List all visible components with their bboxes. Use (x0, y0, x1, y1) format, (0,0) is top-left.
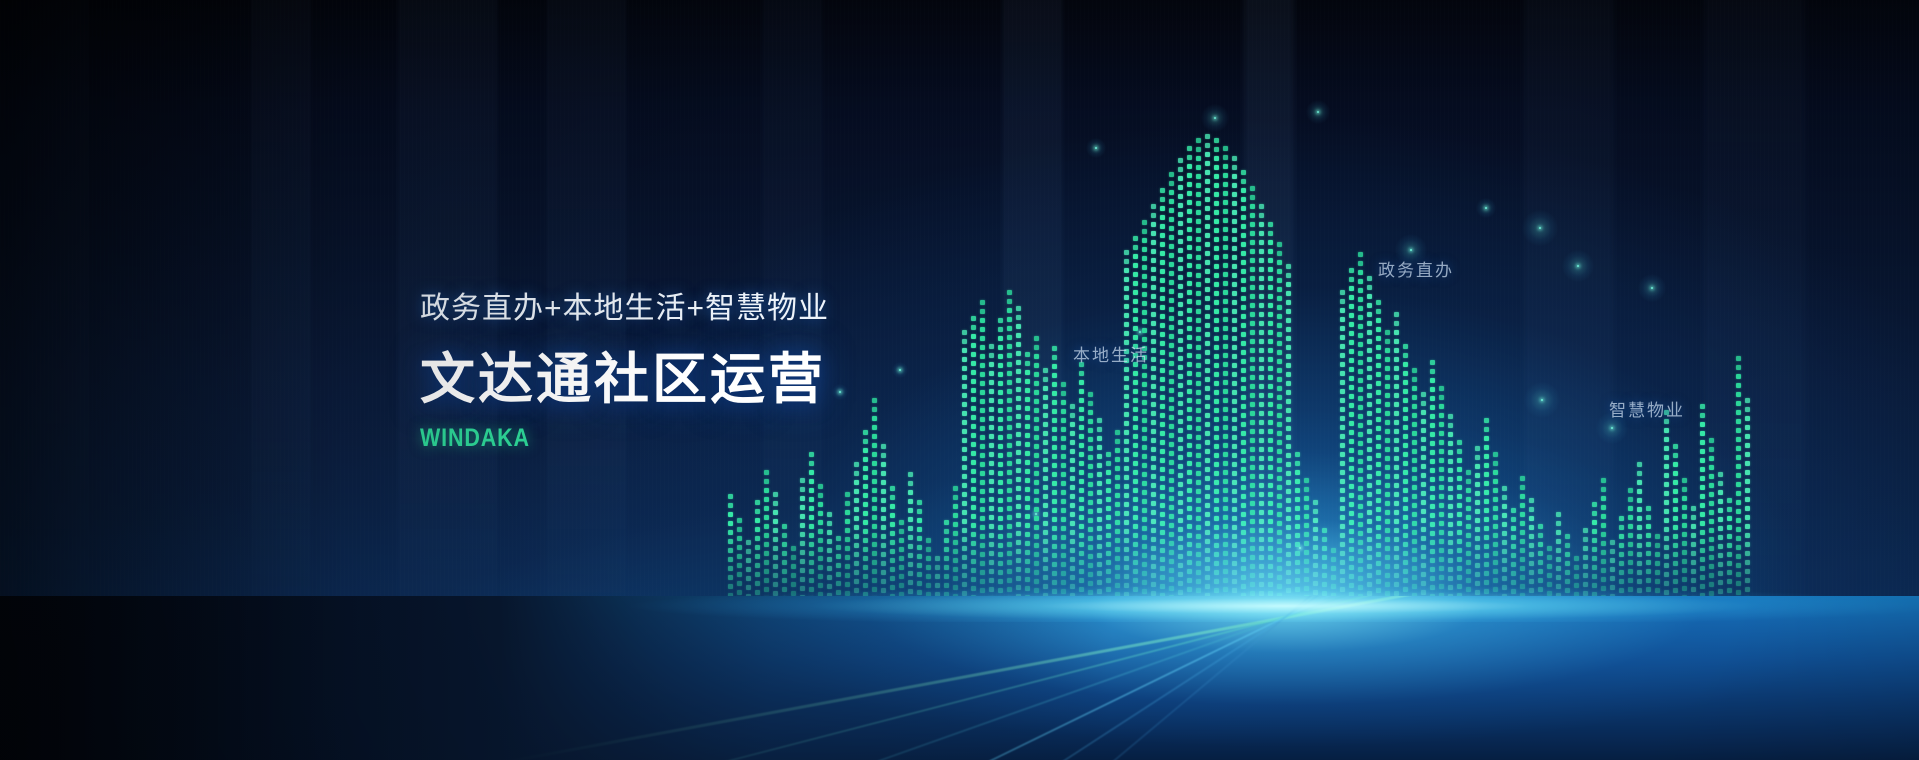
banner-subtitle: 政务直办+本地生活+智慧物业 (420, 290, 829, 328)
horizon-glow (0, 586, 1919, 622)
headline-block: 政务直办+本地生活+智慧物业 文达通社区运营 WINDAKA (420, 290, 829, 453)
banner-title: 文达通社区运营 (420, 334, 829, 414)
skyline-label-government-service: 政务直办 (1378, 256, 1454, 281)
skyline-label-local-life: 本地生活 (1073, 341, 1149, 366)
brand-wordmark: WINDAKA (420, 424, 772, 453)
banner-root: 政务直办+本地生活+智慧物业 文达通社区运营 WINDAKA 本地生活 政务直办… (0, 0, 1919, 760)
skyline-label-smart-property: 智慧物业 (1609, 396, 1685, 421)
